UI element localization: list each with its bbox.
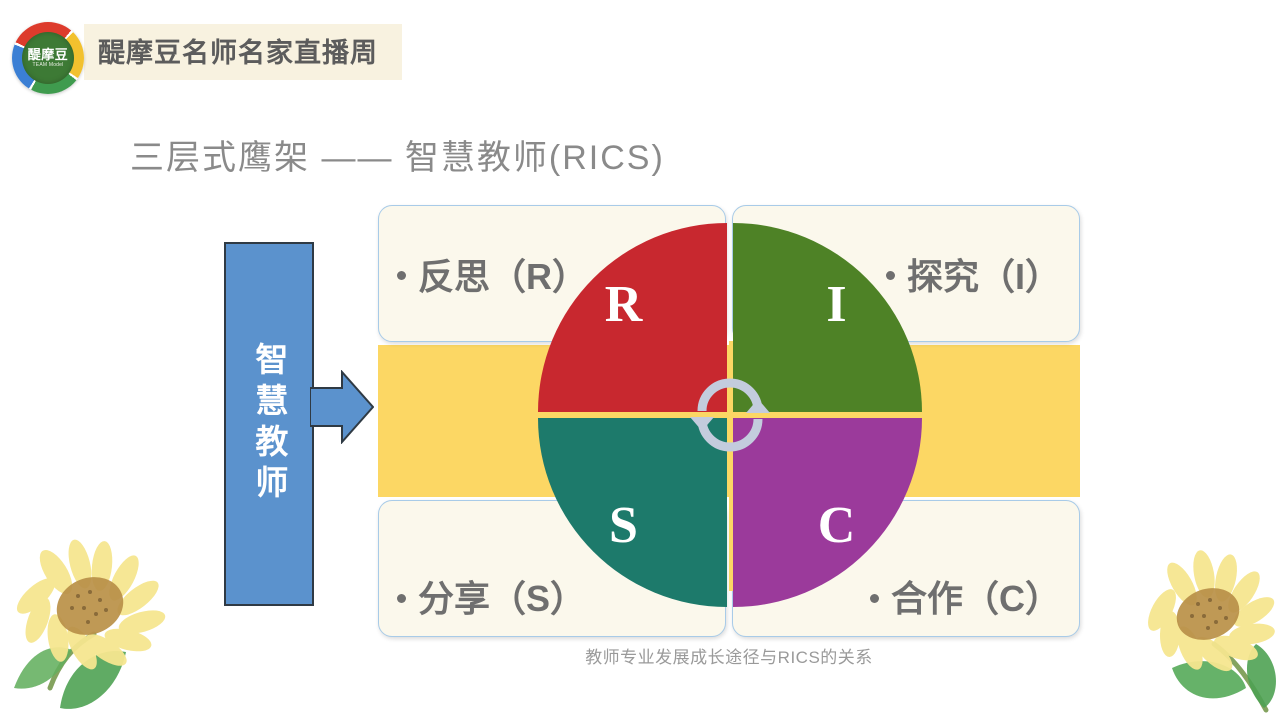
slide-canvas: 醍摩豆 TEAM Model 醍摩豆名师名家直播周 三层式鹰架 —— 智慧教师(… xyxy=(0,0,1280,716)
smart-teacher-label: 智慧教师 xyxy=(245,342,293,506)
rics-letter-c: C xyxy=(818,496,856,555)
rics-letter-r: R xyxy=(605,275,643,334)
header-banner-title: 醍摩豆名师名家直播周 xyxy=(98,32,398,74)
page-title: 三层式鹰架 —— 智慧教师(RICS) xyxy=(130,130,665,179)
figure-caption: 教师专业发展成长途径与RICS的关系 xyxy=(378,643,1080,668)
cycle-arrows-icon xyxy=(686,371,774,459)
sunflower-right-icon xyxy=(1136,548,1280,716)
right-arrow-icon xyxy=(310,370,374,444)
smart-teacher-block: 智慧教师 xyxy=(224,242,314,606)
logo-core: 醍摩豆 TEAM Model xyxy=(22,32,74,84)
rics-letter-s: S xyxy=(609,496,638,555)
bullet-icon xyxy=(397,594,406,603)
bullet-icon xyxy=(397,271,406,280)
logo-core-en: TEAM Model xyxy=(33,62,64,68)
rics-letter-i: I xyxy=(826,275,846,334)
tmd-logo: 醍摩豆 TEAM Model xyxy=(12,22,84,94)
sunflower-left-icon xyxy=(2,538,174,716)
logo-core-cn: 醍摩豆 xyxy=(28,48,69,62)
rics-circle: R I S C xyxy=(538,223,922,607)
